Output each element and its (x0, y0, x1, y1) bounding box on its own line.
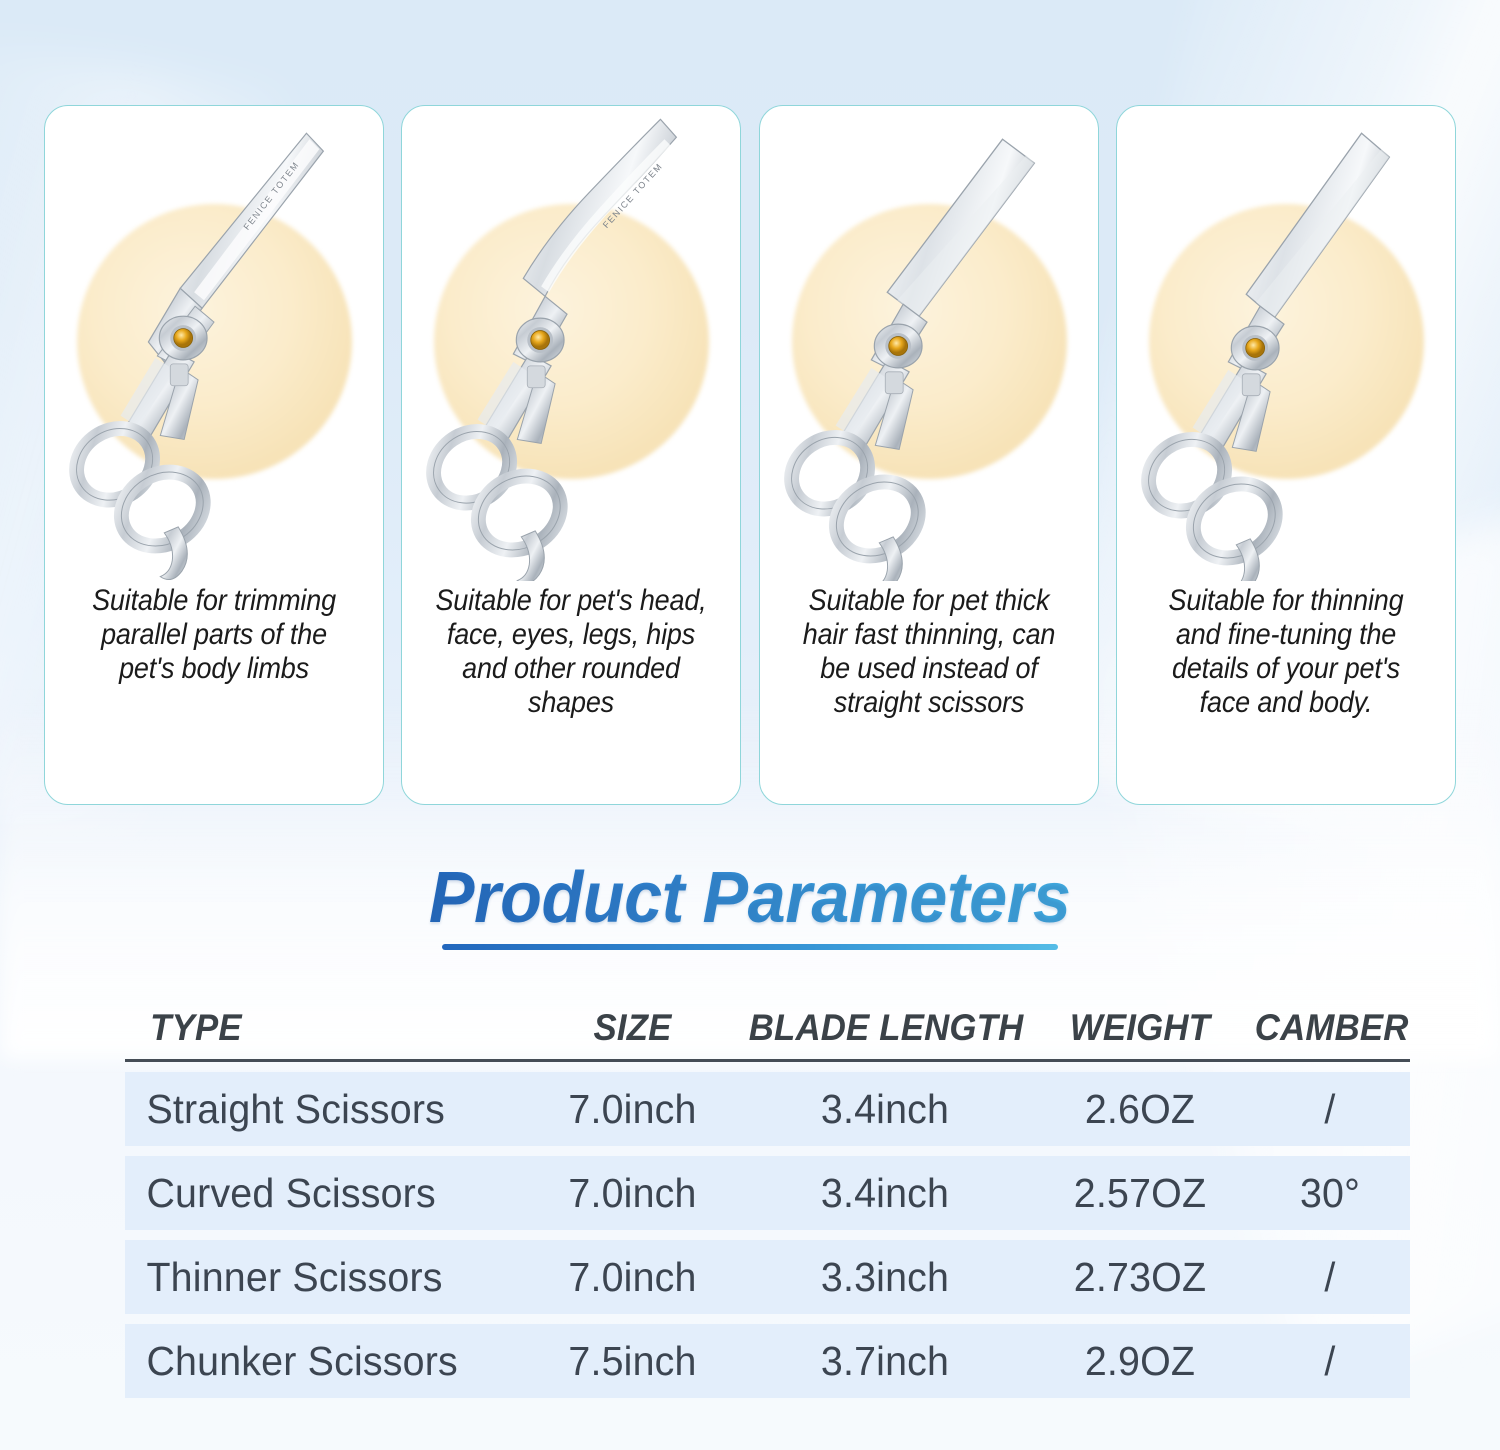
thinning-scissors-icon (1117, 106, 1455, 581)
card-caption: Suitable for thinning and fine-tuning th… (1134, 584, 1438, 720)
product-parameters-table: TYPE SIZE BLADE LENGTH WEIGHT CAMBER Str… (125, 1000, 1410, 1398)
column-header-camber: CAMBER (1255, 1007, 1405, 1049)
column-header-type: TYPE (137, 1007, 513, 1049)
cell-camber: / (1253, 1338, 1407, 1385)
card-figure (1117, 106, 1455, 581)
cell-weight: 2.6OZ (1034, 1086, 1245, 1133)
table-row: Thinner Scissors 7.0inch 3.3inch 2.73OZ … (125, 1240, 1410, 1314)
table-row: Curved Scissors 7.0inch 3.4inch 2.57OZ 3… (125, 1156, 1410, 1230)
card-figure: FENICE TOTEM (45, 106, 383, 581)
cell-type: Curved Scissors (133, 1170, 517, 1217)
svg-text:FENICE TOTEM: FENICE TOTEM (241, 159, 301, 231)
card-caption: Suitable for pet's head, face, eyes, leg… (419, 584, 723, 720)
chunker-scissors-icon (760, 106, 1098, 581)
cell-size: 7.0inch (529, 1254, 735, 1301)
column-header-weight: WEIGHT (1037, 1007, 1244, 1049)
column-header-blade-length: BLADE LENGTH (749, 1007, 1022, 1049)
cell-weight: 2.57OZ (1034, 1170, 1245, 1217)
curved-scissors-icon: FENICE TOTEM (402, 106, 740, 581)
cell-camber: / (1253, 1254, 1407, 1301)
cell-camber: 30° (1253, 1170, 1407, 1217)
feature-card-curved-scissors[interactable]: FENICE TOTEM Suitable for pet's head, fa… (401, 105, 741, 805)
feature-card-straight-scissors[interactable]: FENICE TOTEM Suitable for trimming paral… (44, 105, 384, 805)
infographic-page: FENICE TOTEM Suitable for trimming paral… (0, 0, 1500, 1450)
straight-scissors-icon: FENICE TOTEM (45, 106, 383, 581)
cell-camber: / (1253, 1086, 1407, 1133)
card-figure (760, 106, 1098, 581)
card-caption: Suitable for trimming parallel parts of … (62, 584, 366, 686)
cell-blade-length: 3.4inch (746, 1170, 1024, 1217)
feature-card-thinning-scissors[interactable]: Suitable for thinning and fine-tuning th… (1116, 105, 1456, 805)
cell-type: Straight Scissors (133, 1086, 517, 1133)
table-header-row: TYPE SIZE BLADE LENGTH WEIGHT CAMBER (125, 1000, 1410, 1062)
cell-size: 7.5inch (529, 1338, 735, 1385)
cell-size: 7.0inch (529, 1170, 735, 1217)
cell-weight: 2.9OZ (1034, 1338, 1245, 1385)
cell-weight: 2.73OZ (1034, 1254, 1245, 1301)
card-figure: FENICE TOTEM (402, 106, 740, 581)
cell-blade-length: 3.7inch (746, 1338, 1024, 1385)
card-caption: Suitable for pet thick hair fast thinnin… (777, 584, 1081, 720)
table-row: Straight Scissors 7.0inch 3.4inch 2.6OZ … (125, 1072, 1410, 1146)
table-row: Chunker Scissors 7.5inch 3.7inch 2.9OZ / (125, 1324, 1410, 1398)
cell-type: Chunker Scissors (133, 1338, 517, 1385)
cell-size: 7.0inch (529, 1086, 735, 1133)
cell-blade-length: 3.4inch (746, 1086, 1024, 1133)
feature-card-row: FENICE TOTEM Suitable for trimming paral… (44, 105, 1456, 805)
column-header-size: SIZE (531, 1007, 733, 1049)
cell-blade-length: 3.3inch (746, 1254, 1024, 1301)
feature-card-chunker-scissors[interactable]: Suitable for pet thick hair fast thinnin… (759, 105, 1099, 805)
title-underline (442, 944, 1058, 950)
cell-type: Thinner Scissors (133, 1254, 517, 1301)
section-title-block: Product Parameters (0, 862, 1500, 950)
page-title: Product Parameters (429, 862, 1071, 934)
